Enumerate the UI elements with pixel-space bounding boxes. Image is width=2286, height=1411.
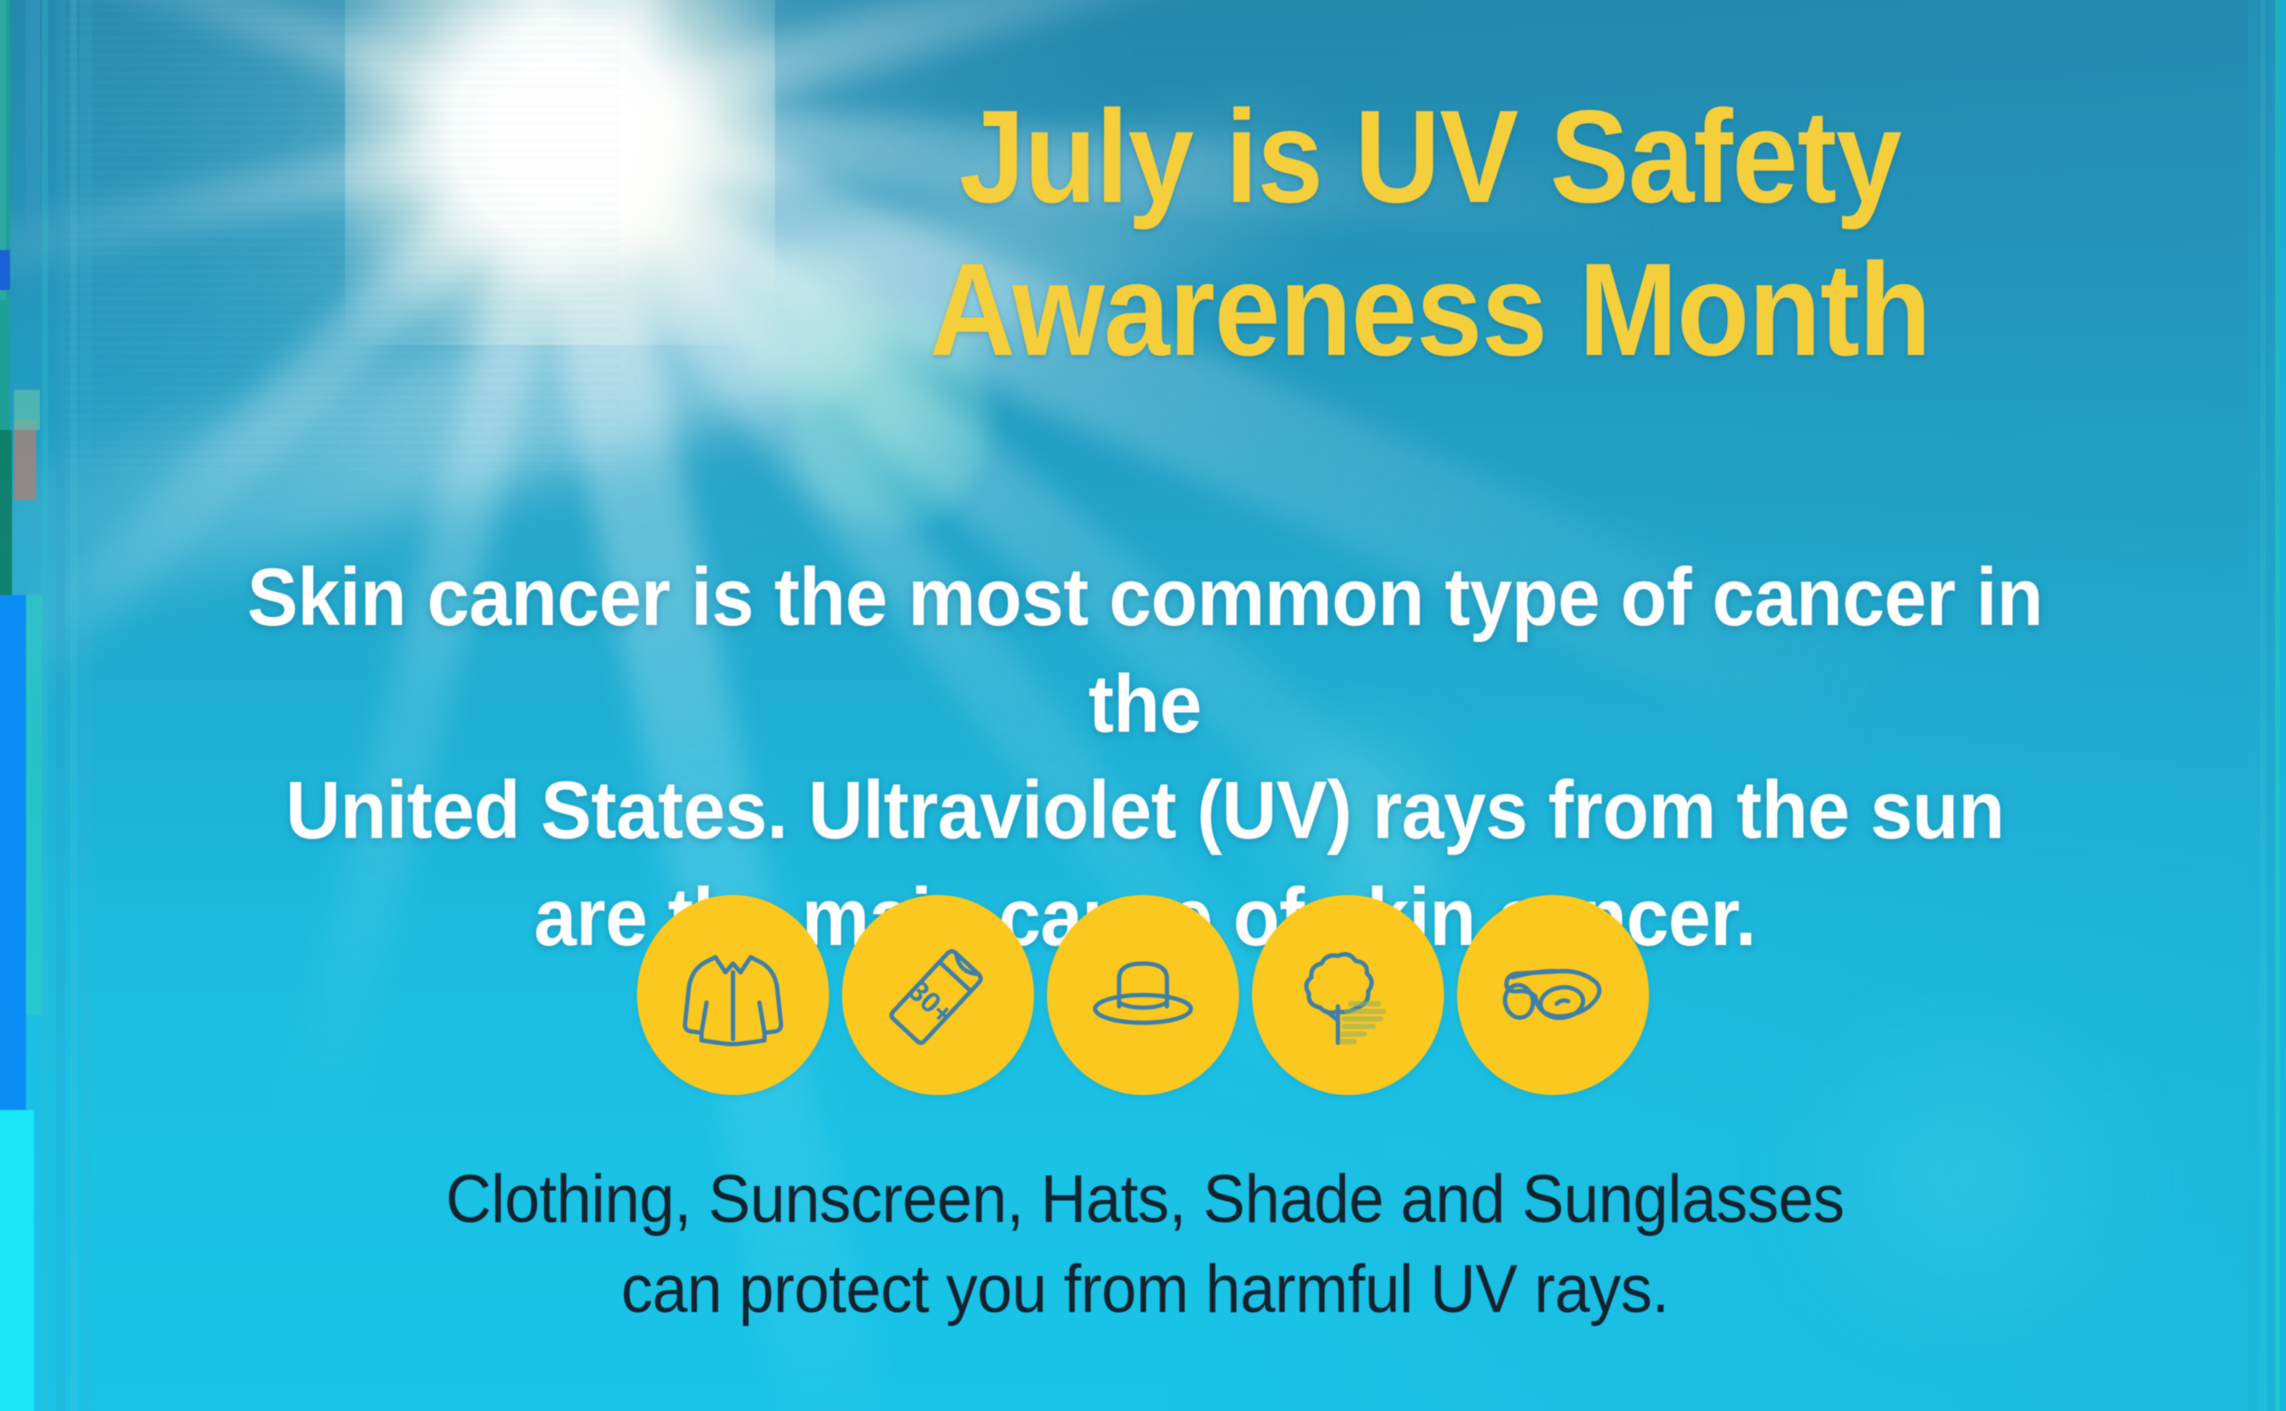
clothing-icon	[637, 895, 829, 1095]
shade-tree-icon	[1252, 895, 1444, 1095]
sunscreen-icon: 30+	[842, 895, 1034, 1095]
page-title: July is UV Safety Awareness Month	[719, 80, 2141, 386]
sunscreen-spf-label: 30+	[902, 975, 960, 1032]
protection-caption: Clothing, Sunscreen, Hats, Shade and Sun…	[322, 1155, 1968, 1335]
uv-safety-poster: July is UV Safety Awareness Month Skin c…	[0, 0, 2286, 1411]
protection-icon-row: 30+	[637, 895, 1649, 1095]
hat-icon	[1047, 895, 1239, 1095]
sunglasses-icon	[1457, 895, 1649, 1095]
